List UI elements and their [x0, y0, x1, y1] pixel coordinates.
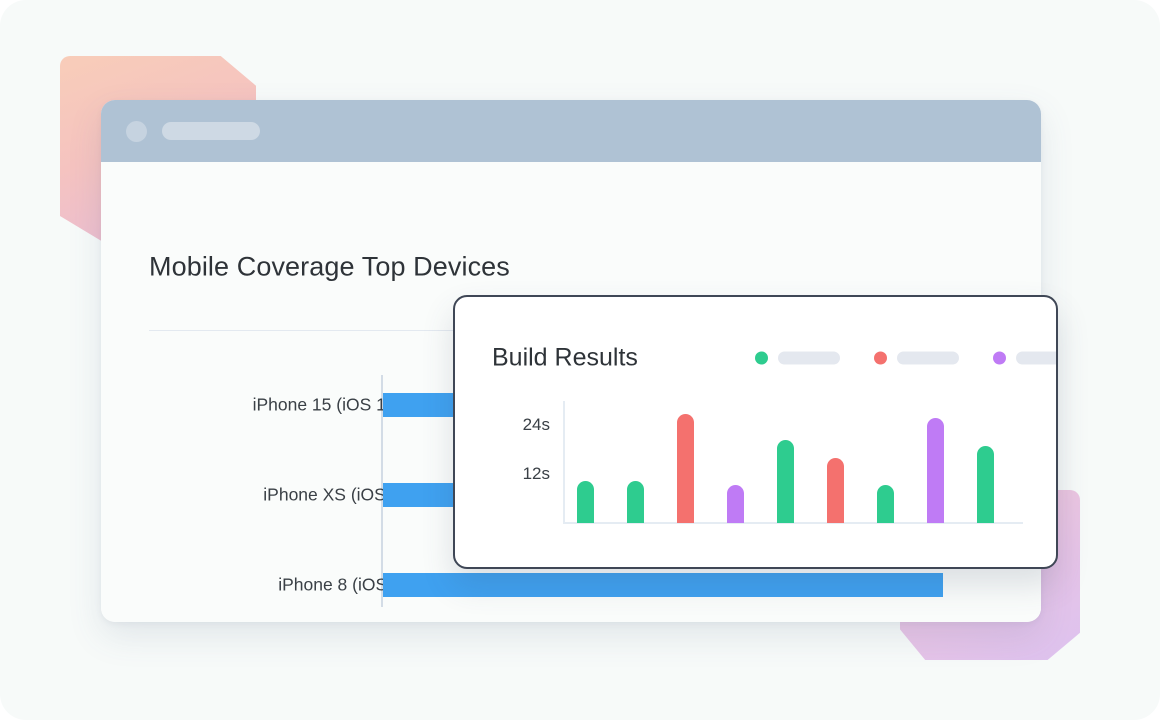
legend-item[interactable]	[993, 352, 1058, 365]
legend-label-placeholder	[1016, 352, 1058, 365]
build-results-plot: 24s12s	[455, 397, 1058, 537]
build-chart-bar	[827, 458, 844, 523]
window-dot-icon[interactable]	[126, 121, 147, 142]
address-bar-placeholder[interactable]	[162, 122, 260, 140]
build-chart-bar	[877, 485, 894, 523]
legend-item[interactable]	[755, 352, 840, 365]
build-results-title: Build Results	[492, 344, 638, 373]
build-chart-bar	[977, 446, 994, 523]
build-results-legend	[755, 352, 1058, 365]
y-axis-tick-label: 12s	[523, 464, 550, 484]
build-chart-bar	[627, 481, 644, 523]
screenshot-stage: Mobile Coverage Top Devices iPhone 15 (i…	[0, 0, 1160, 720]
device-coverage-bar	[383, 573, 943, 597]
build-chart-bar	[677, 414, 694, 523]
build-chart-bar	[777, 440, 794, 523]
legend-item[interactable]	[874, 352, 959, 365]
legend-red-dot-icon	[874, 352, 887, 365]
page-title: Mobile Coverage Top Devices	[149, 252, 510, 283]
build-card-header: Build Results	[455, 297, 1058, 402]
build-chart-bar	[927, 418, 944, 523]
y-axis-tick-label: 24s	[523, 415, 550, 435]
legend-green-dot-icon	[755, 352, 768, 365]
legend-label-placeholder	[897, 352, 959, 365]
build-chart-bar	[577, 481, 594, 523]
browser-chrome-bar	[101, 100, 1041, 162]
legend-label-placeholder	[778, 352, 840, 365]
build-chart-bar	[727, 485, 744, 523]
device-row: iPhone 8 (iOS 11)	[101, 573, 1041, 597]
build-results-card: Build Results 24s12s	[453, 295, 1058, 569]
build-chart-y-axis	[563, 401, 565, 523]
legend-purple-dot-icon	[993, 352, 1006, 365]
